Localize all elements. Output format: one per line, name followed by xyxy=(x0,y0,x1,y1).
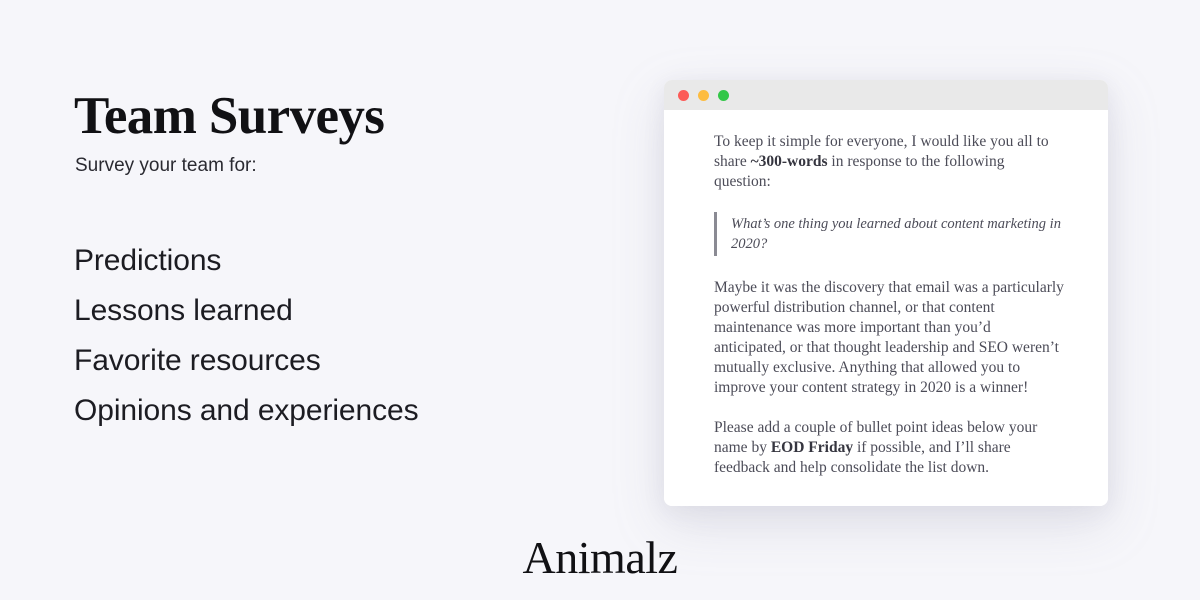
blockquote-text: What’s one thing you learned about conte… xyxy=(731,214,1064,254)
document-paragraph-2: Maybe it was the discovery that email wa… xyxy=(714,278,1064,398)
window-titlebar[interactable] xyxy=(664,80,1108,110)
document-body: To keep it simple for everyone, I would … xyxy=(664,110,1108,506)
survey-topic-list: Predictions Lessons learned Favorite res… xyxy=(74,236,419,436)
list-item: Lessons learned xyxy=(74,286,419,336)
page-title: Team Surveys xyxy=(74,88,614,144)
maximize-icon[interactable] xyxy=(718,90,729,101)
list-item: Opinions and experiences xyxy=(74,386,419,436)
deadline-emphasis: EOD Friday xyxy=(771,439,853,456)
minimize-icon[interactable] xyxy=(698,90,709,101)
page-subtitle: Survey your team for: xyxy=(75,154,614,179)
document-paragraph-1: To keep it simple for everyone, I would … xyxy=(714,132,1064,192)
list-item: Predictions xyxy=(74,236,419,286)
headline-block: Team Surveys Survey your team for: xyxy=(74,88,614,179)
word-count-emphasis: ~300-words xyxy=(751,153,828,170)
list-item: Favorite resources xyxy=(74,336,419,386)
slide-canvas: { "slide": { "background_color": "#f6f6f… xyxy=(0,0,1200,600)
document-blockquote: What’s one thing you learned about conte… xyxy=(714,212,1064,256)
document-window: To keep it simple for everyone, I would … xyxy=(664,80,1108,506)
close-icon[interactable] xyxy=(678,90,689,101)
window-card-shadow: To keep it simple for everyone, I would … xyxy=(664,80,1108,506)
brand-logo: Animalz xyxy=(0,530,1200,586)
document-paragraph-3: Please add a couple of bullet point idea… xyxy=(714,418,1064,478)
